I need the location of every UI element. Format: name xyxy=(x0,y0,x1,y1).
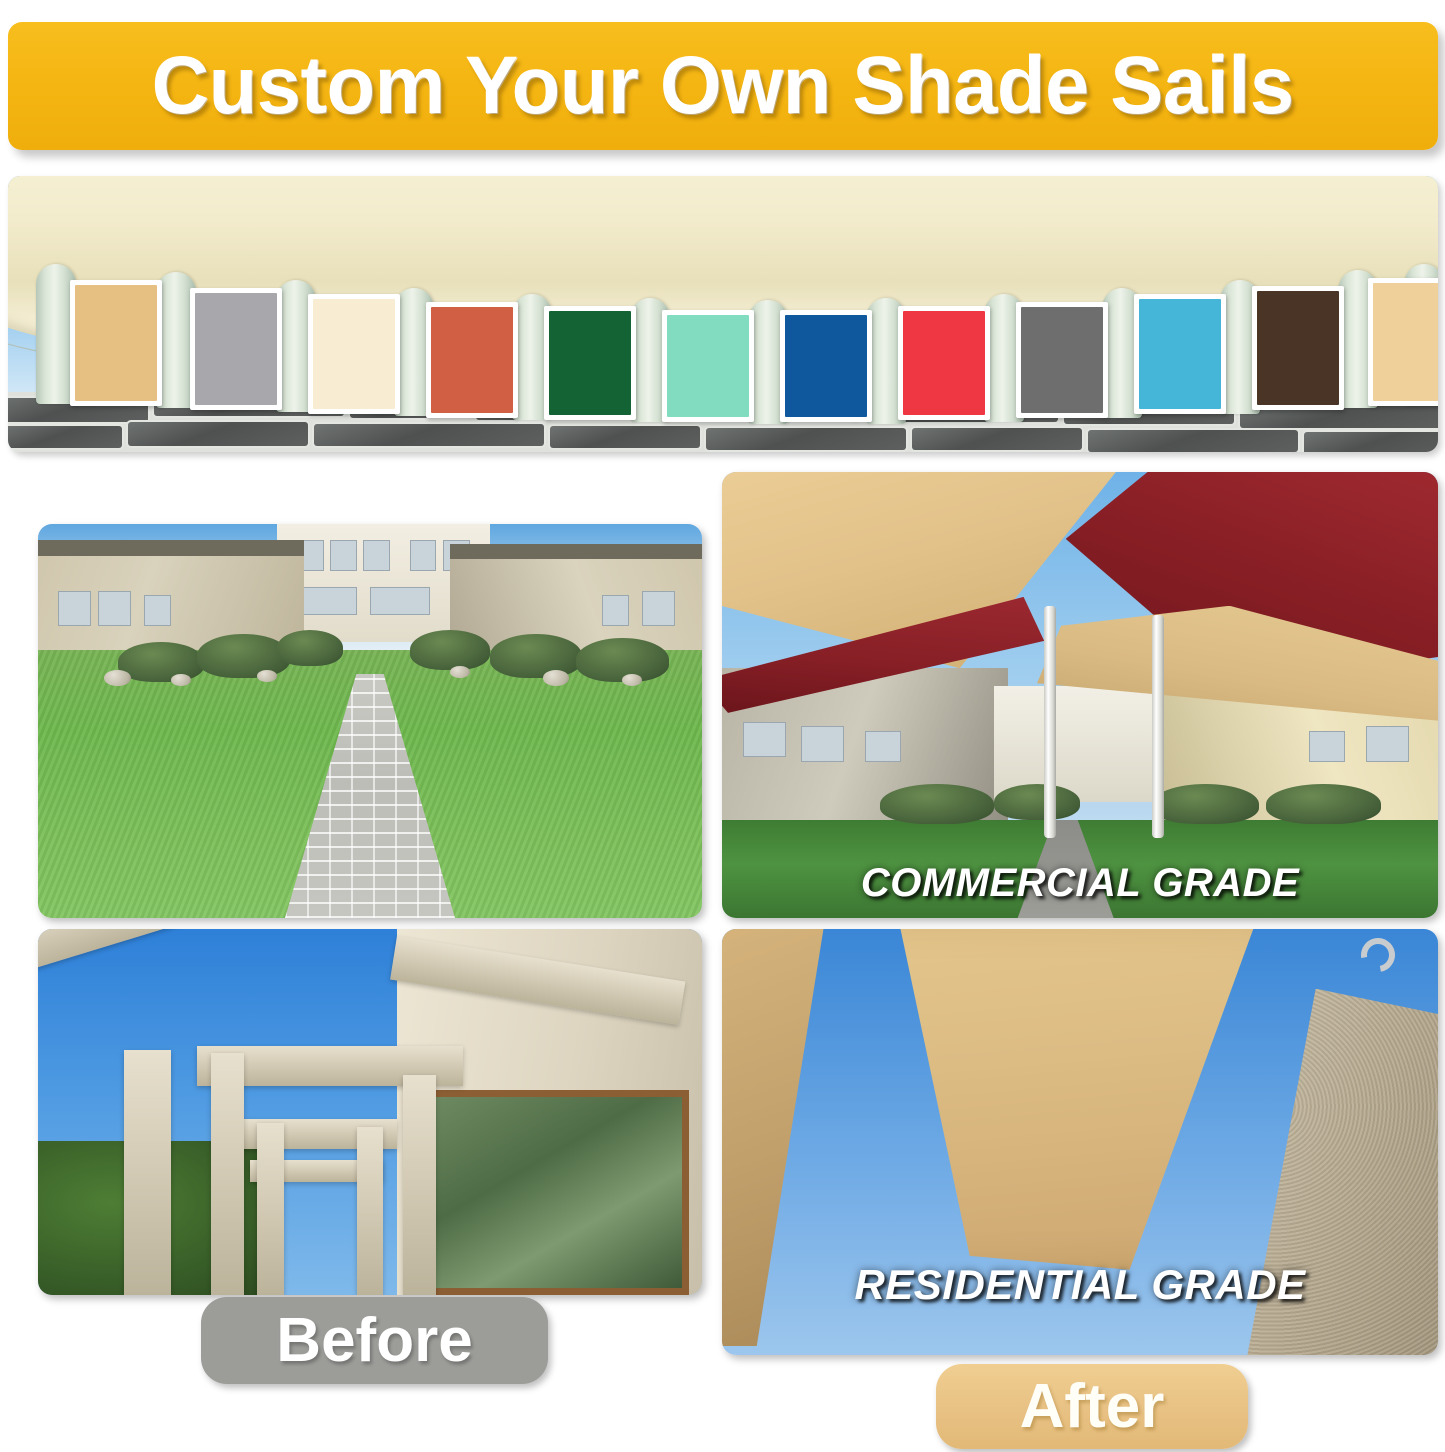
swatch-bright-red[interactable] xyxy=(898,306,990,420)
sail-pole-left xyxy=(1044,606,1056,838)
swatch-cyan-blue[interactable] xyxy=(1134,294,1226,414)
photo-commercial-grade: COMMERCIAL GRADE xyxy=(722,472,1438,918)
swatch-dark-brown[interactable] xyxy=(1252,286,1344,410)
swatch-sand[interactable] xyxy=(70,280,162,406)
swatch-light-grey[interactable] xyxy=(190,288,282,410)
swatch-terracotta[interactable] xyxy=(426,302,518,418)
color-swatch-band xyxy=(8,176,1438,452)
page-title: Custom Your Own Shade Sails xyxy=(152,45,1294,127)
badge-before-label: Before xyxy=(276,1310,472,1372)
swatch-dark-green[interactable] xyxy=(544,306,636,420)
photo-pergola-before xyxy=(38,929,702,1295)
badge-after-label: After xyxy=(1020,1376,1165,1438)
photo-courtyard-before xyxy=(38,524,702,918)
badge-before: Before xyxy=(201,1297,548,1384)
product-infographic: Custom Your Own Shade Sails xyxy=(0,0,1445,1452)
swatch-cream-ivory[interactable] xyxy=(308,294,400,414)
photo-residential-grade: RESIDENTIAL GRADE xyxy=(722,929,1438,1355)
swatch-charcoal-grey[interactable] xyxy=(1016,302,1108,418)
badge-after: After xyxy=(936,1364,1248,1449)
swatch-beige[interactable] xyxy=(1368,278,1438,406)
residential-grade-label: RESIDENTIAL GRADE xyxy=(722,1261,1438,1309)
sail-pole-right xyxy=(1152,615,1164,838)
commercial-grade-label: COMMERCIAL GRADE xyxy=(722,861,1438,906)
swatch-mint-turquoise[interactable] xyxy=(662,310,754,422)
swatch-royal-blue[interactable] xyxy=(780,310,872,422)
header-banner: Custom Your Own Shade Sails xyxy=(8,22,1438,150)
